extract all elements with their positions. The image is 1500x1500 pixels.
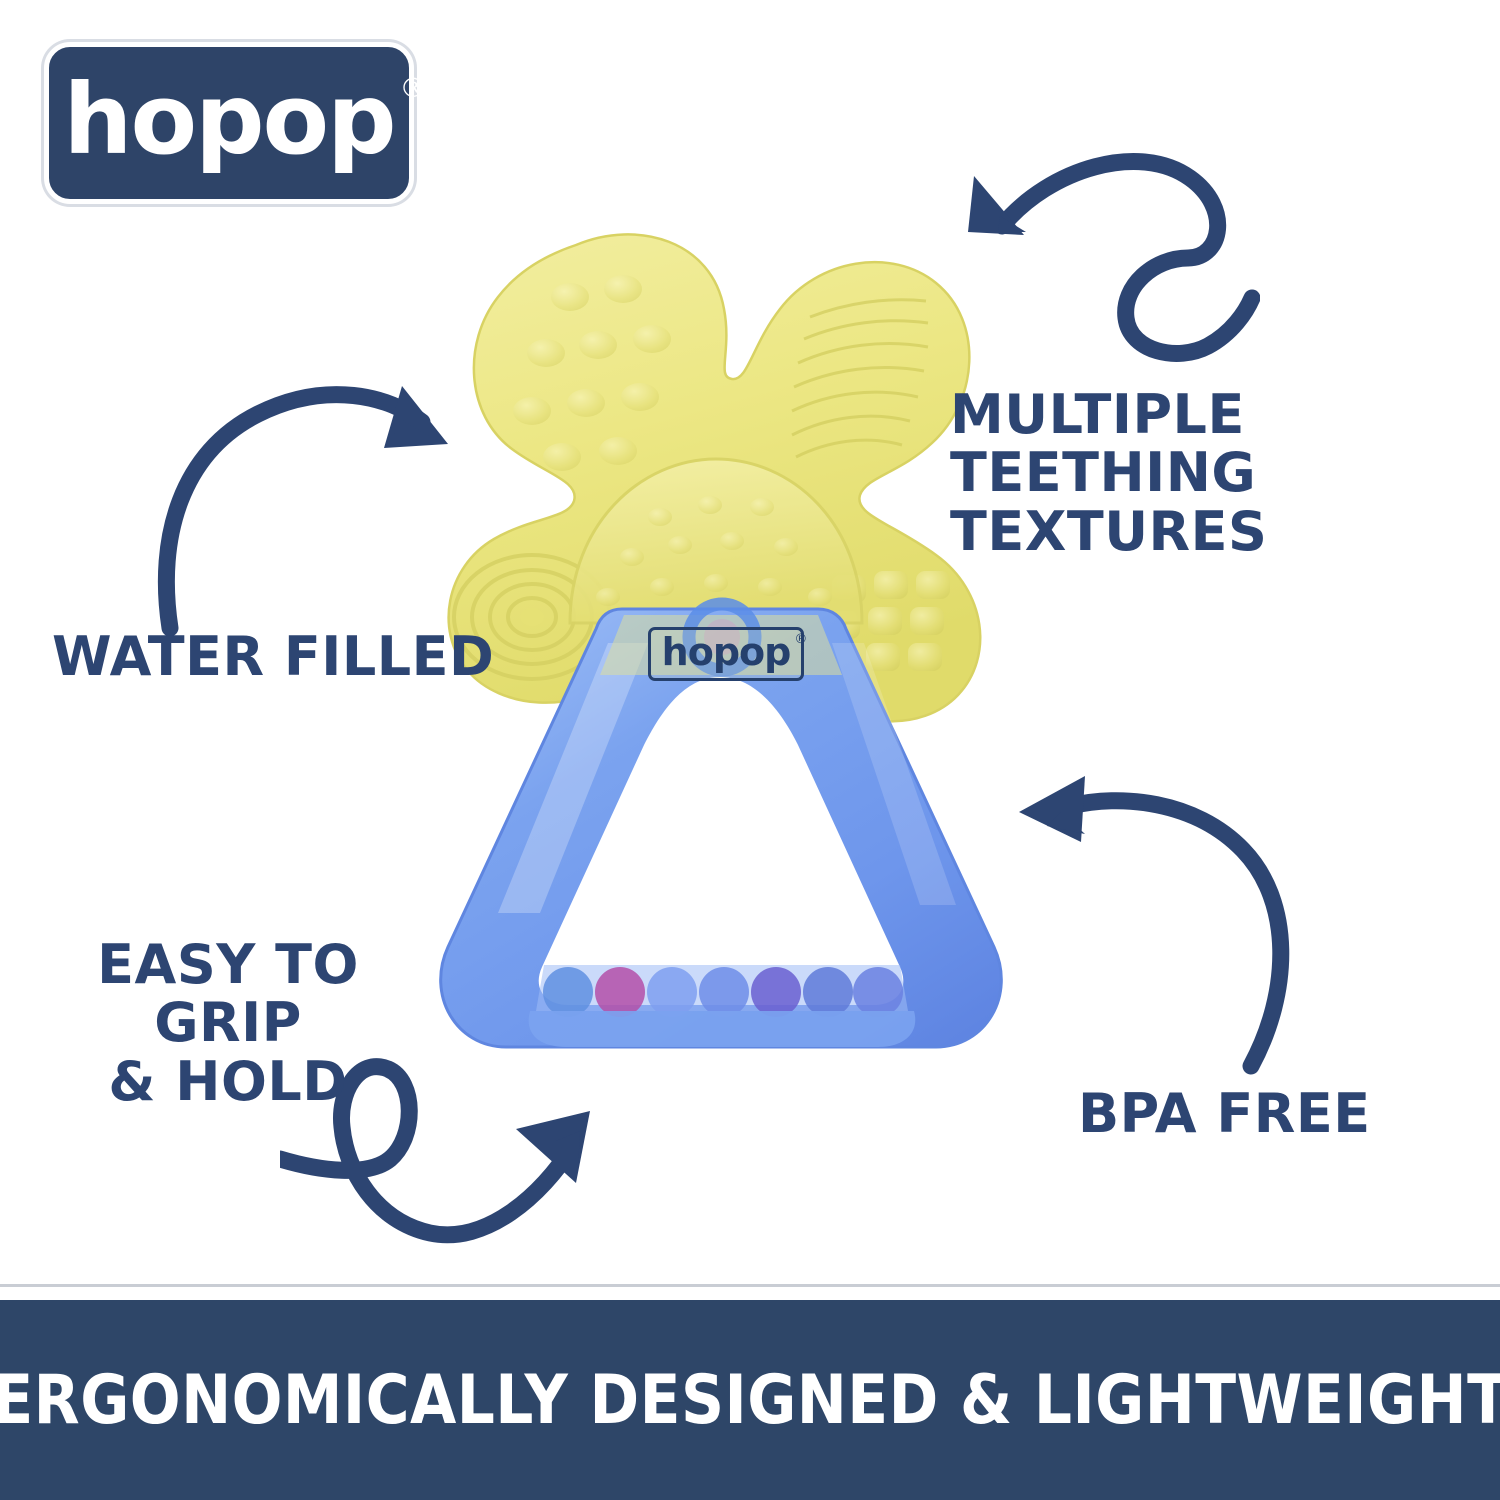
product-hopop-badge: hopop ® (648, 627, 804, 681)
banner-top-divider (0, 1284, 1500, 1287)
bottom-banner: ERGONOMICALLY DESIGNED & LIGHTWEIGHT (0, 1300, 1500, 1500)
registered-trademark-icon: ® (400, 75, 425, 102)
product-badge-wordmark: hopop ® (662, 633, 791, 671)
teether-ring-center (520, 608, 544, 626)
feature-label-bpa-free: BPA FREE (1078, 1085, 1371, 1143)
feature-label-easy-to-grip-and-hold: EASY TO GRIP & HOLD (48, 936, 408, 1111)
brand-logo: hopop ® (44, 42, 414, 204)
product-badge-trademark-icon: ® (794, 633, 806, 646)
brand-logo-wordmark: hopop ® (63, 71, 394, 168)
brand-logo-text: hopop (63, 63, 394, 176)
bottom-banner-text: ERGONOMICALLY DESIGNED & LIGHTWEIGHT (0, 1361, 1500, 1440)
infographic-canvas: hopop ® (0, 0, 1500, 1500)
feature-label-multiple-teething-textures: MULTIPLE TEETHING TEXTURES (950, 386, 1390, 561)
feature-label-water-filled: WATER FILLED (52, 628, 494, 686)
product-badge-text: hopop (662, 630, 791, 674)
